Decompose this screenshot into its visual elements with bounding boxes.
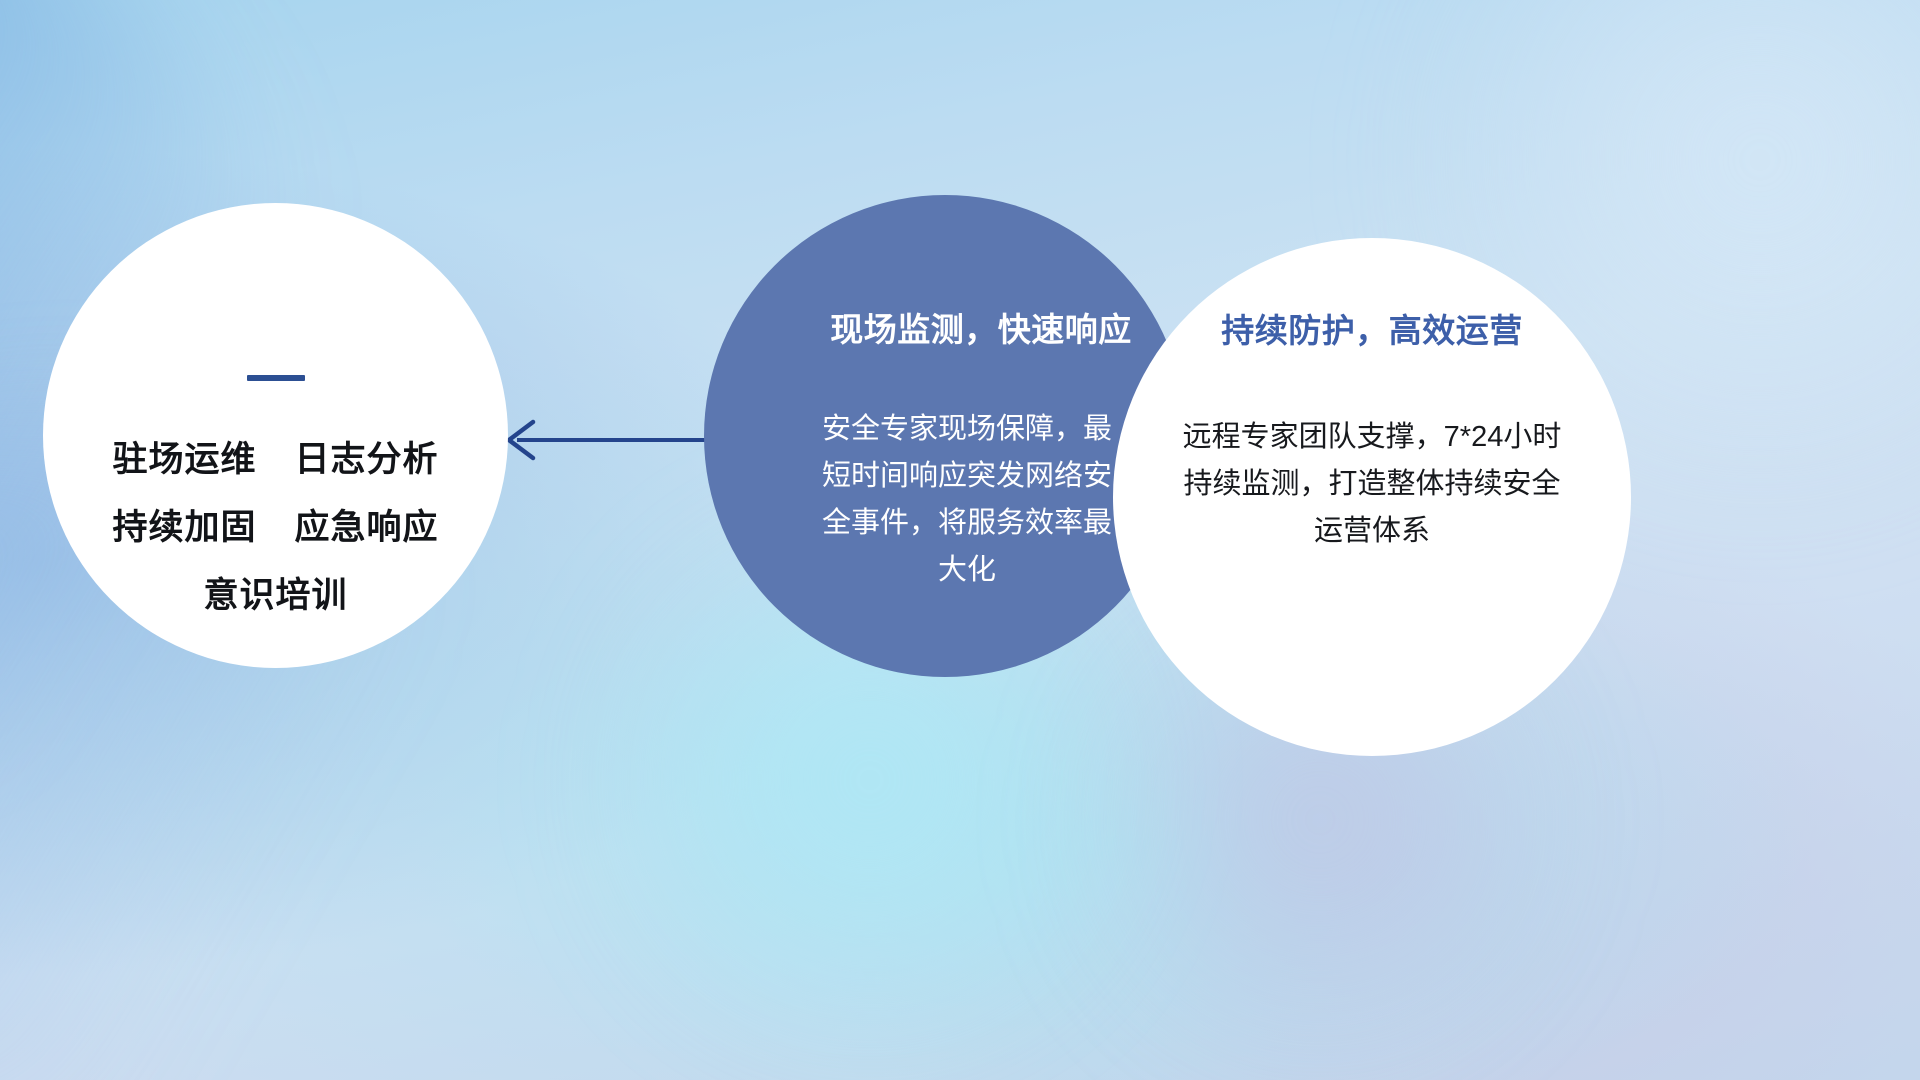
capabilities-content: 驻场运维 日志分析 持续加固 应急响应 意识培训 [43,375,508,618]
onsite-monitoring-body: 安全专家现场保障，最短时间响应突发网络安全事件，将服务效率最大化 [817,406,1117,594]
slide-canvas: 驻场运维 日志分析 持续加固 应急响应 意识培训 现场监测，快速响应 安全专家现… [0,0,1920,1080]
node-continuous-protection[interactable]: 持续防护，高效运营 远程专家团队支撑，7*24小时持续监测，打造整体持续安全运营… [1113,238,1631,756]
node-capabilities[interactable]: 驻场运维 日志分析 持续加固 应急响应 意识培训 [43,203,508,668]
onsite-monitoring-content: 现场监测，快速响应 安全专家现场保障，最短时间响应突发网络安全事件，将服务效率最… [780,303,1110,594]
capabilities-row: 意识培训 [203,567,347,618]
capability-tag: 持续加固 [112,499,256,550]
capability-tag: 日志分析 [295,431,439,482]
capabilities-list: 驻场运维 日志分析 持续加固 应急响应 意识培训 [112,431,438,618]
continuous-protection-title: 持续防护，高效运营 [1221,304,1523,352]
capability-tag: 应急响应 [295,499,439,550]
flow-arrow-icon [487,410,737,470]
capabilities-row: 驻场运维 日志分析 [112,431,438,482]
continuous-protection-content: 持续防护，高效运营 远程专家团队支撑，7*24小时持续监测，打造整体持续安全运营… [1172,304,1572,555]
divider-dash [247,375,305,381]
node-onsite-monitoring[interactable]: 现场监测，快速响应 安全专家现场保障，最短时间响应突发网络安全事件，将服务效率最… [704,195,1186,677]
capability-tag: 驻场运维 [112,431,256,482]
continuous-protection-body: 远程专家团队支撑，7*24小时持续监测，打造整体持续安全运营体系 [1172,414,1572,555]
capabilities-row: 持续加固 应急响应 [112,499,438,550]
onsite-monitoring-title: 现场监测，快速响应 [830,303,1132,351]
capability-tag: 意识培训 [203,567,347,618]
flow-arrow [487,410,737,470]
